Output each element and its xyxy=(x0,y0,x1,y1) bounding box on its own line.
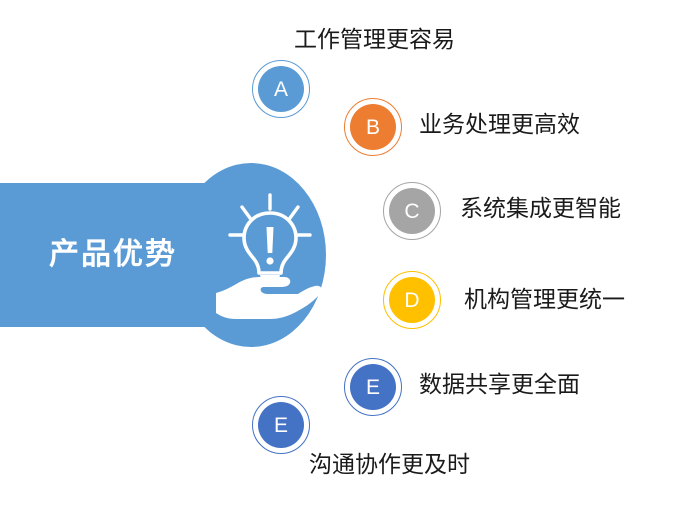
node-circle-6[interactable]: E xyxy=(252,396,310,454)
node-letter: D xyxy=(404,290,419,311)
node-label-5: 数据共享更全面 xyxy=(419,373,580,396)
node-label-1: 工作管理更容易 xyxy=(294,28,455,51)
node-letter: E xyxy=(274,415,288,436)
hand-holding-lightbulb-icon xyxy=(214,187,326,327)
node-letter: E xyxy=(366,377,380,398)
node-disc: E xyxy=(350,364,396,410)
node-circle-5[interactable]: E xyxy=(344,358,402,416)
node-circle-2[interactable]: B xyxy=(344,98,402,156)
node-letter: B xyxy=(366,117,380,138)
node-circle-1[interactable]: A xyxy=(252,60,310,118)
node-letter: A xyxy=(274,79,288,100)
node-label-2: 业务处理更高效 xyxy=(419,113,580,136)
node-disc: B xyxy=(350,104,396,150)
banner-title: 产品优势 xyxy=(18,240,208,270)
node-disc: E xyxy=(258,402,304,448)
node-label-4: 机构管理更统一 xyxy=(464,288,625,311)
product-advantage-banner: 产品优势 xyxy=(0,163,326,347)
node-disc: D xyxy=(389,277,435,323)
node-label-3: 系统集成更智能 xyxy=(460,197,621,220)
node-label-6: 沟通协作更及时 xyxy=(309,453,470,476)
node-circle-4[interactable]: D xyxy=(383,271,441,329)
node-letter: C xyxy=(404,201,419,222)
node-disc: A xyxy=(258,66,304,112)
infographic-canvas: 产品优势 A工作管理更容易B业务处理更高效C系统集成更智能D机构管理更统一E数据… xyxy=(0,0,673,515)
node-disc: C xyxy=(389,188,435,234)
node-circle-3[interactable]: C xyxy=(383,182,441,240)
